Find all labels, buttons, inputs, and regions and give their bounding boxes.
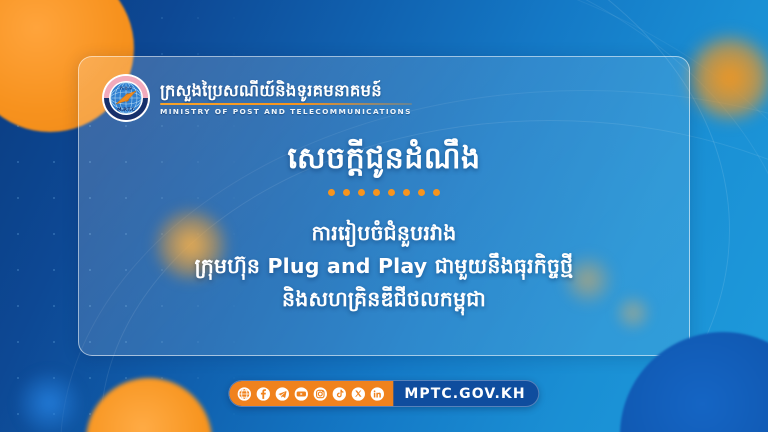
website-url[interactable]: MPTC.GOV.KH	[393, 386, 538, 402]
announcement-banner: ក.ប.ទ M.P.T.C ក្រសួងប្រៃសណីយ៍និងទូរគមនាគ…	[0, 0, 768, 432]
facebook-icon[interactable]	[255, 386, 271, 402]
divider-dot	[388, 189, 395, 196]
youtube-icon[interactable]	[293, 386, 309, 402]
mptc-ministry-emblem-icon: ក.ប.ទ M.P.T.C	[101, 73, 151, 123]
announcement-body-line-1: ការរៀបចំជំនួបរវាង	[79, 217, 689, 250]
orange-circle-bottom-left	[86, 378, 212, 432]
dot-divider	[79, 189, 689, 196]
svg-text:ក.ប.ទ: ក.ប.ទ	[120, 87, 132, 92]
divider-dot	[328, 189, 335, 196]
announcement-body: ការរៀបចំជំនួបរវាងក្រុមហ៊ុន Plug and Play…	[79, 217, 689, 317]
footer-contact-bar: MPTC.GOV.KH	[228, 380, 539, 407]
divider-dot	[433, 189, 440, 196]
instagram-icon[interactable]	[312, 386, 328, 402]
tiktok-icon[interactable]	[331, 386, 347, 402]
divider-dot	[418, 189, 425, 196]
blue-glow-bottom-left	[14, 368, 84, 432]
ministry-brand-lockup: ក.ប.ទ M.P.T.C ក្រសួងប្រៃសណីយ៍និងទូរគមនាគ…	[101, 73, 412, 123]
ministry-name-khmer: ក្រសួងប្រៃសណីយ៍និងទូរគមនាគមន៍	[160, 83, 412, 100]
social-icon-row[interactable]	[229, 381, 393, 406]
announcement-body-line-3: និងសហគ្រិនឌីជីថលកម្ពុជា	[79, 283, 689, 316]
orange-glow-right	[684, 32, 768, 124]
divider-dot	[373, 189, 380, 196]
globe-icon[interactable]	[236, 386, 252, 402]
announcement-headline: សេចក្តីជូនដំណឹង	[79, 139, 689, 183]
ministry-name-english: MINISTRY OF POST AND TELECOMMUNICATIONS	[160, 108, 412, 115]
svg-text:M.P.T.C: M.P.T.C	[117, 107, 135, 113]
announcement-card: ក.ប.ទ M.P.T.C ក្រសួងប្រៃសណីយ៍និងទូរគមនាគ…	[78, 56, 690, 356]
divider-dot	[403, 189, 410, 196]
divider-dot	[343, 189, 350, 196]
telegram-icon[interactable]	[274, 386, 290, 402]
announcement-body-line-2: ក្រុមហ៊ុន Plug and Play ជាមួយនឹងធុរកិច្ច…	[79, 250, 689, 283]
x-twitter-icon[interactable]	[350, 386, 366, 402]
divider-dot	[358, 189, 365, 196]
linkedin-icon[interactable]	[369, 386, 385, 402]
brand-divider-rule	[160, 103, 412, 105]
